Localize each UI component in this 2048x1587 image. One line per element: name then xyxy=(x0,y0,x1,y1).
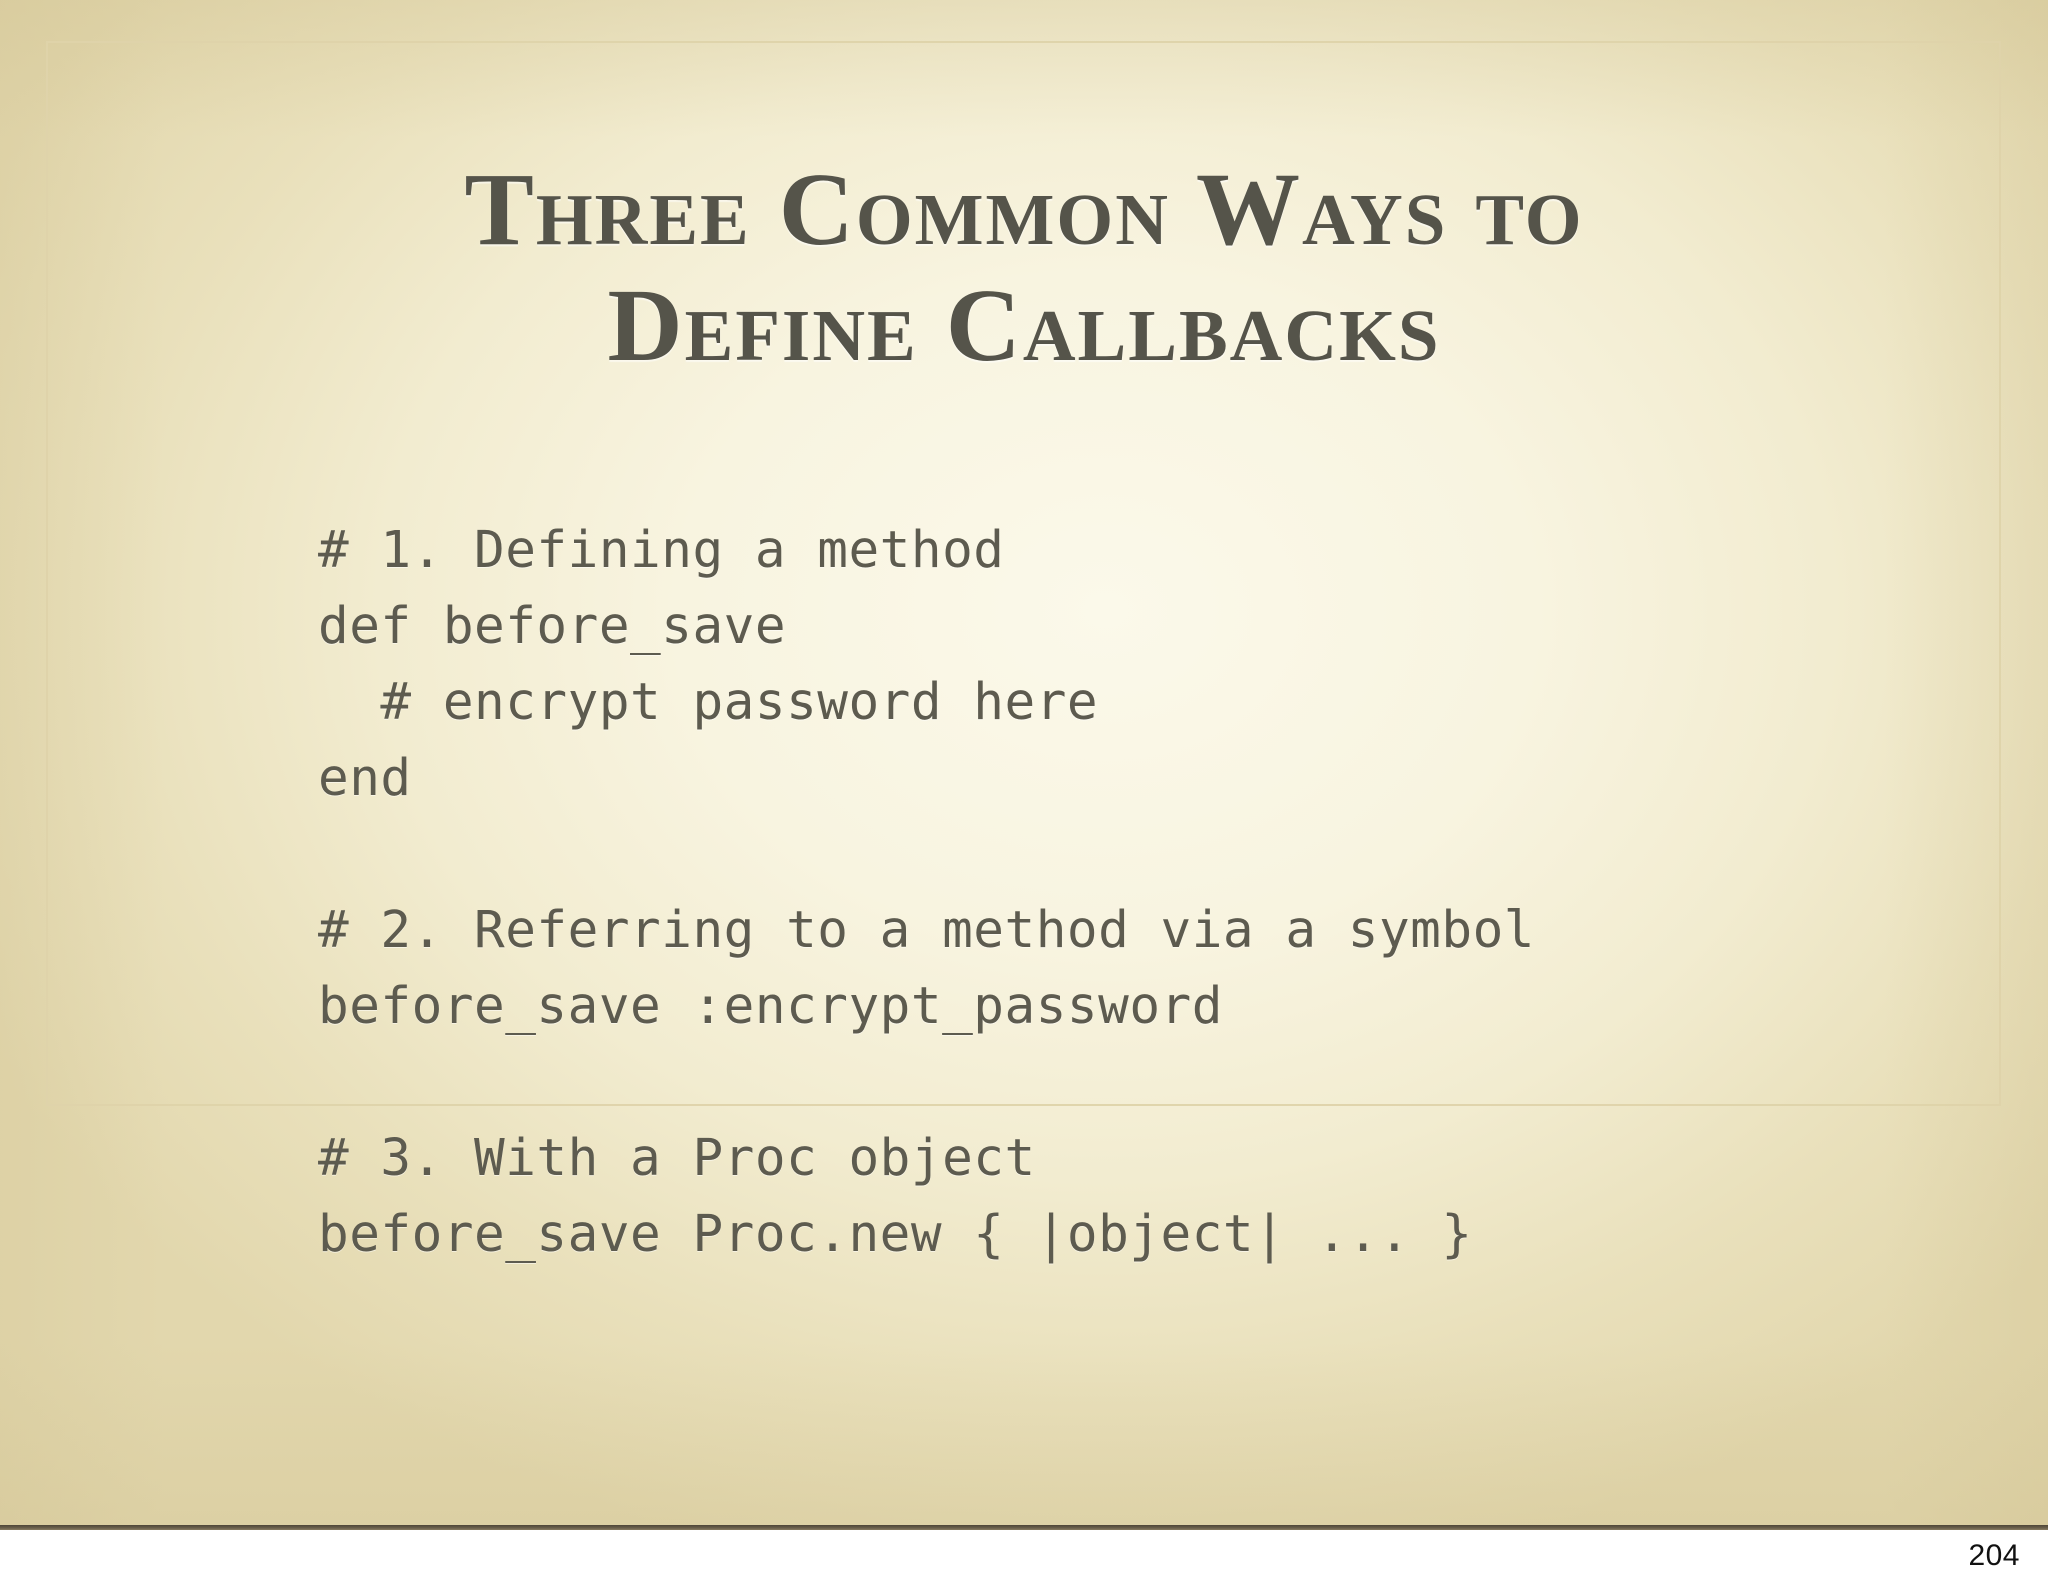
slide-canvas: Three Common Ways to Define Callbacks # … xyxy=(0,0,2048,1525)
code-line: def before_save xyxy=(318,589,1535,665)
slide-root: Three Common Ways to Define Callbacks # … xyxy=(0,0,2048,1587)
code-line: before_save :encrypt_password xyxy=(318,969,1535,1045)
code-block: # 1. Defining a methoddef before_save # … xyxy=(318,513,1535,1273)
code-line: end xyxy=(318,741,1535,817)
slide-title: Three Common Ways to Define Callbacks xyxy=(120,152,1928,385)
slide-title-line-2: Define Callbacks xyxy=(120,268,1928,384)
slide-title-line-1: Three Common Ways to xyxy=(120,152,1928,268)
code-line: before_save Proc.new { |object| ... } xyxy=(318,1197,1535,1273)
page-number: 204 xyxy=(1968,1539,2020,1573)
footer-area xyxy=(0,1530,2048,1587)
code-line: # 3. With a Proc object xyxy=(318,1121,1535,1197)
code-line-blank xyxy=(318,1045,1535,1121)
code-line-blank xyxy=(318,817,1535,893)
code-line: # 2. Referring to a method via a symbol xyxy=(318,893,1535,969)
code-line: # encrypt password here xyxy=(318,665,1535,741)
code-line: # 1. Defining a method xyxy=(318,513,1535,589)
